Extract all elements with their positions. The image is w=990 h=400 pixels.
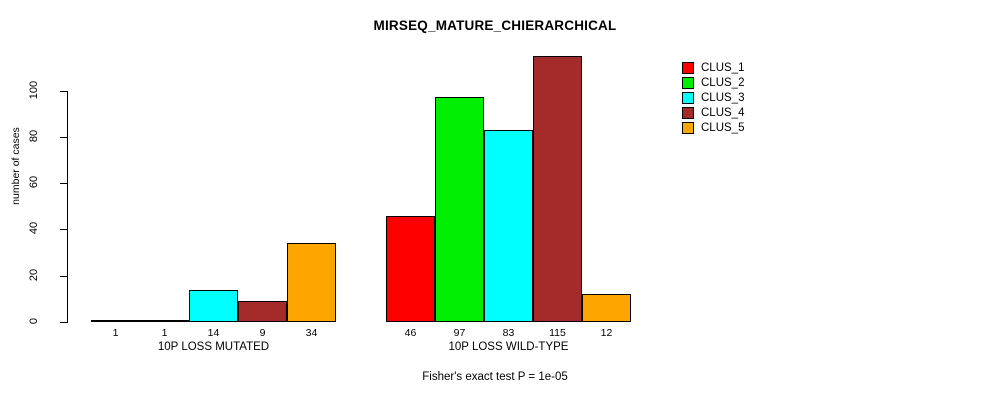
bar-value-label: 1 xyxy=(140,327,189,339)
bar xyxy=(189,290,238,322)
bar-value-label: 97 xyxy=(435,327,484,339)
y-axis-tick-label: 40 xyxy=(28,208,40,248)
legend-item-label: CLUS_5 xyxy=(701,122,744,134)
legend-item-label: CLUS_1 xyxy=(701,62,744,74)
bar-value-label: 9 xyxy=(238,327,287,339)
statistical-annotation: Fisher's exact test P = 1e-05 xyxy=(0,371,990,383)
y-axis-tick-label: 80 xyxy=(28,116,40,156)
bar-value-label: 83 xyxy=(484,327,533,339)
y-axis-line xyxy=(67,91,68,323)
legend-item-label: CLUS_2 xyxy=(701,77,744,89)
y-axis-tick-label: 100 xyxy=(28,70,40,110)
bar xyxy=(582,294,631,322)
y-axis-tick xyxy=(60,137,67,138)
legend-swatch-icon xyxy=(682,92,694,104)
bar-value-label: 46 xyxy=(386,327,435,339)
bar xyxy=(238,301,287,322)
legend-item: CLUS_5 xyxy=(682,120,744,135)
bar xyxy=(533,56,582,322)
chart-title: MIRSEQ_MATURE_CHIERARCHICAL xyxy=(0,18,990,33)
legend-item: CLUS_2 xyxy=(682,75,744,90)
bar-value-label: 12 xyxy=(582,327,631,339)
legend-item-label: CLUS_4 xyxy=(701,107,744,119)
y-axis-tick xyxy=(60,91,67,92)
y-axis-title: number of cases xyxy=(10,106,22,226)
bar xyxy=(484,130,533,322)
x-axis-group-label: 10P LOSS WILD-TYPE xyxy=(386,341,631,353)
y-axis-tick xyxy=(60,322,67,323)
legend-item: CLUS_3 xyxy=(682,90,744,105)
bar-value-label: 1 xyxy=(91,327,140,339)
bar xyxy=(91,320,140,322)
legend-swatch-icon xyxy=(682,122,694,134)
y-axis-tick-label: 60 xyxy=(28,162,40,202)
bar-value-label: 115 xyxy=(533,327,582,339)
x-axis-group-label: 10P LOSS MUTATED xyxy=(91,341,336,353)
legend-swatch-icon xyxy=(682,107,694,119)
y-axis-tick-label: 0 xyxy=(28,301,40,341)
bar xyxy=(287,243,336,322)
y-axis-tick xyxy=(60,229,67,230)
legend-item: CLUS_4 xyxy=(682,105,744,120)
legend-item: CLUS_1 xyxy=(682,60,744,75)
legend-item-label: CLUS_3 xyxy=(701,92,744,104)
y-axis-tick-label: 20 xyxy=(28,255,40,295)
bar xyxy=(435,97,484,322)
y-axis-tick xyxy=(60,276,67,277)
bar-value-label: 34 xyxy=(287,327,336,339)
bar xyxy=(386,216,435,322)
bar-chart-figure: MIRSEQ_MATURE_CHIERARCHICAL 020406080100… xyxy=(0,0,990,400)
legend-swatch-icon xyxy=(682,62,694,74)
legend-swatch-icon xyxy=(682,77,694,89)
legend: CLUS_1CLUS_2CLUS_3CLUS_4CLUS_5 xyxy=(682,60,744,135)
y-axis-tick xyxy=(60,183,67,184)
bar-value-label: 14 xyxy=(189,327,238,339)
bar xyxy=(140,320,189,322)
